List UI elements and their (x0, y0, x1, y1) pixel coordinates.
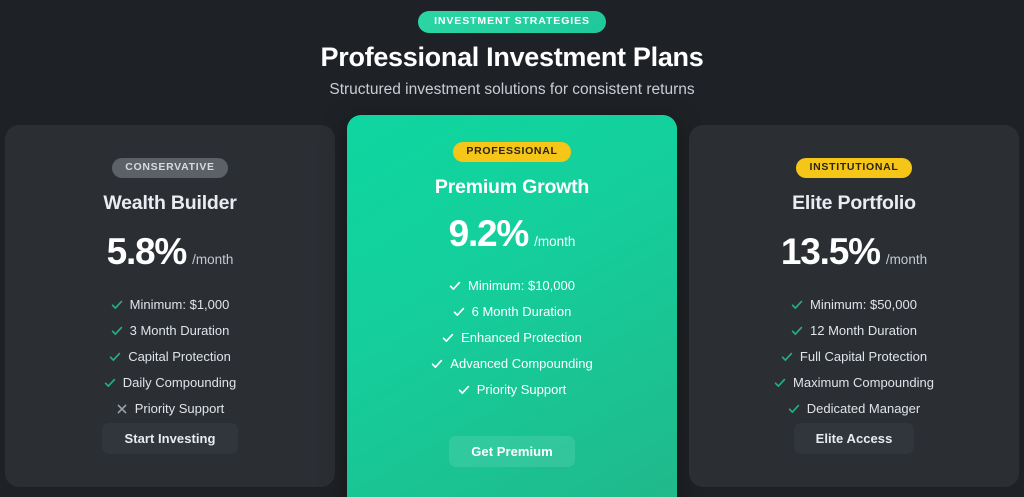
tier-badge: PROFESSIONAL (453, 142, 570, 162)
plan-name: Wealth Builder (103, 192, 236, 215)
page-title: Professional Investment Plans (0, 42, 1024, 73)
feature-label: Minimum: $50,000 (810, 298, 917, 311)
tier-badge: CONSERVATIVE (112, 158, 228, 178)
feature-label: Priority Support (477, 383, 567, 396)
feature-item: 3 Month Duration (19, 318, 321, 344)
rate-row: 5.8%/month (107, 233, 234, 270)
feature-label: 12 Month Duration (810, 324, 917, 337)
feature-item: Daily Compounding (19, 370, 321, 396)
feature-label: Dedicated Manager (807, 402, 920, 415)
feature-label: Maximum Compounding (793, 376, 934, 389)
feature-item: Maximum Compounding (703, 370, 1005, 396)
feature-label: Daily Compounding (123, 376, 236, 389)
feature-item: 12 Month Duration (703, 318, 1005, 344)
page-subtitle: Structured investment solutions for cons… (0, 81, 1024, 100)
feature-item: 6 Month Duration (361, 299, 663, 325)
cta-button[interactable]: Start Investing (102, 423, 237, 454)
cta-wrap: Get Premium (347, 436, 677, 467)
check-icon (111, 325, 123, 337)
feature-label: Enhanced Protection (461, 331, 582, 344)
feature-item: Dedicated Manager (703, 396, 1005, 422)
pricing-card-elite-portfolio[interactable]: INSTITUTIONALElite Portfolio13.5%/monthM… (689, 125, 1019, 487)
cta-button[interactable]: Elite Access (794, 423, 915, 454)
check-icon (791, 299, 803, 311)
feature-list: Minimum: $1,0003 Month DurationCapital P… (5, 292, 335, 422)
feature-item: Priority Support (19, 396, 321, 422)
check-icon (453, 306, 465, 318)
feature-label: Minimum: $10,000 (468, 279, 575, 292)
check-icon (791, 325, 803, 337)
feature-label: Minimum: $1,000 (130, 298, 230, 311)
feature-label: Advanced Compounding (450, 357, 592, 370)
cta-wrap: Start Investing (5, 423, 335, 454)
feature-item: Full Capital Protection (703, 344, 1005, 370)
pricing-card-wealth-builder[interactable]: CONSERVATIVEWealth Builder5.8%/monthMini… (5, 125, 335, 487)
rate-period: /month (534, 235, 575, 249)
cta-wrap: Elite Access (689, 423, 1019, 454)
check-icon (458, 384, 470, 396)
check-icon (109, 351, 121, 363)
pricing-card-premium-growth[interactable]: PROFESSIONALPremium Growth9.2%/monthMini… (347, 115, 677, 497)
feature-label: Full Capital Protection (800, 350, 927, 363)
feature-item: Minimum: $10,000 (361, 273, 663, 299)
feature-label: 3 Month Duration (130, 324, 230, 337)
rate-value: 13.5% (781, 233, 880, 270)
feature-label: Capital Protection (128, 350, 231, 363)
feature-item: Minimum: $50,000 (703, 292, 1005, 318)
pricing-cards-row: CONSERVATIVEWealth Builder5.8%/monthMini… (0, 115, 1024, 497)
rate-period: /month (886, 253, 927, 267)
check-icon (431, 358, 443, 370)
check-icon (788, 403, 800, 415)
feature-item: Priority Support (361, 377, 663, 403)
check-icon (104, 377, 116, 389)
check-icon (781, 351, 793, 363)
rate-value: 9.2% (449, 215, 529, 252)
tier-badge: INSTITUTIONAL (796, 158, 911, 178)
feature-list: Minimum: $10,0006 Month DurationEnhanced… (347, 273, 677, 403)
plan-name: Premium Growth (435, 176, 589, 199)
feature-item: Capital Protection (19, 344, 321, 370)
feature-item: Advanced Compounding (361, 351, 663, 377)
feature-list: Minimum: $50,00012 Month DurationFull Ca… (689, 292, 1019, 422)
check-icon (449, 280, 461, 292)
rate-period: /month (192, 253, 233, 267)
feature-label: Priority Support (135, 402, 225, 415)
cta-button[interactable]: Get Premium (449, 436, 574, 467)
check-icon (111, 299, 123, 311)
check-icon (774, 377, 786, 389)
eyebrow-badge: INVESTMENT STRATEGIES (418, 11, 606, 33)
rate-value: 5.8% (107, 233, 187, 270)
rate-row: 9.2%/month (449, 215, 576, 252)
feature-item: Minimum: $1,000 (19, 292, 321, 318)
feature-item: Enhanced Protection (361, 325, 663, 351)
check-icon (442, 332, 454, 344)
feature-label: 6 Month Duration (472, 305, 572, 318)
cross-icon (116, 403, 128, 415)
page-header: INVESTMENT STRATEGIES Professional Inves… (0, 0, 1024, 99)
plan-name: Elite Portfolio (792, 192, 916, 215)
rate-row: 13.5%/month (781, 233, 927, 270)
